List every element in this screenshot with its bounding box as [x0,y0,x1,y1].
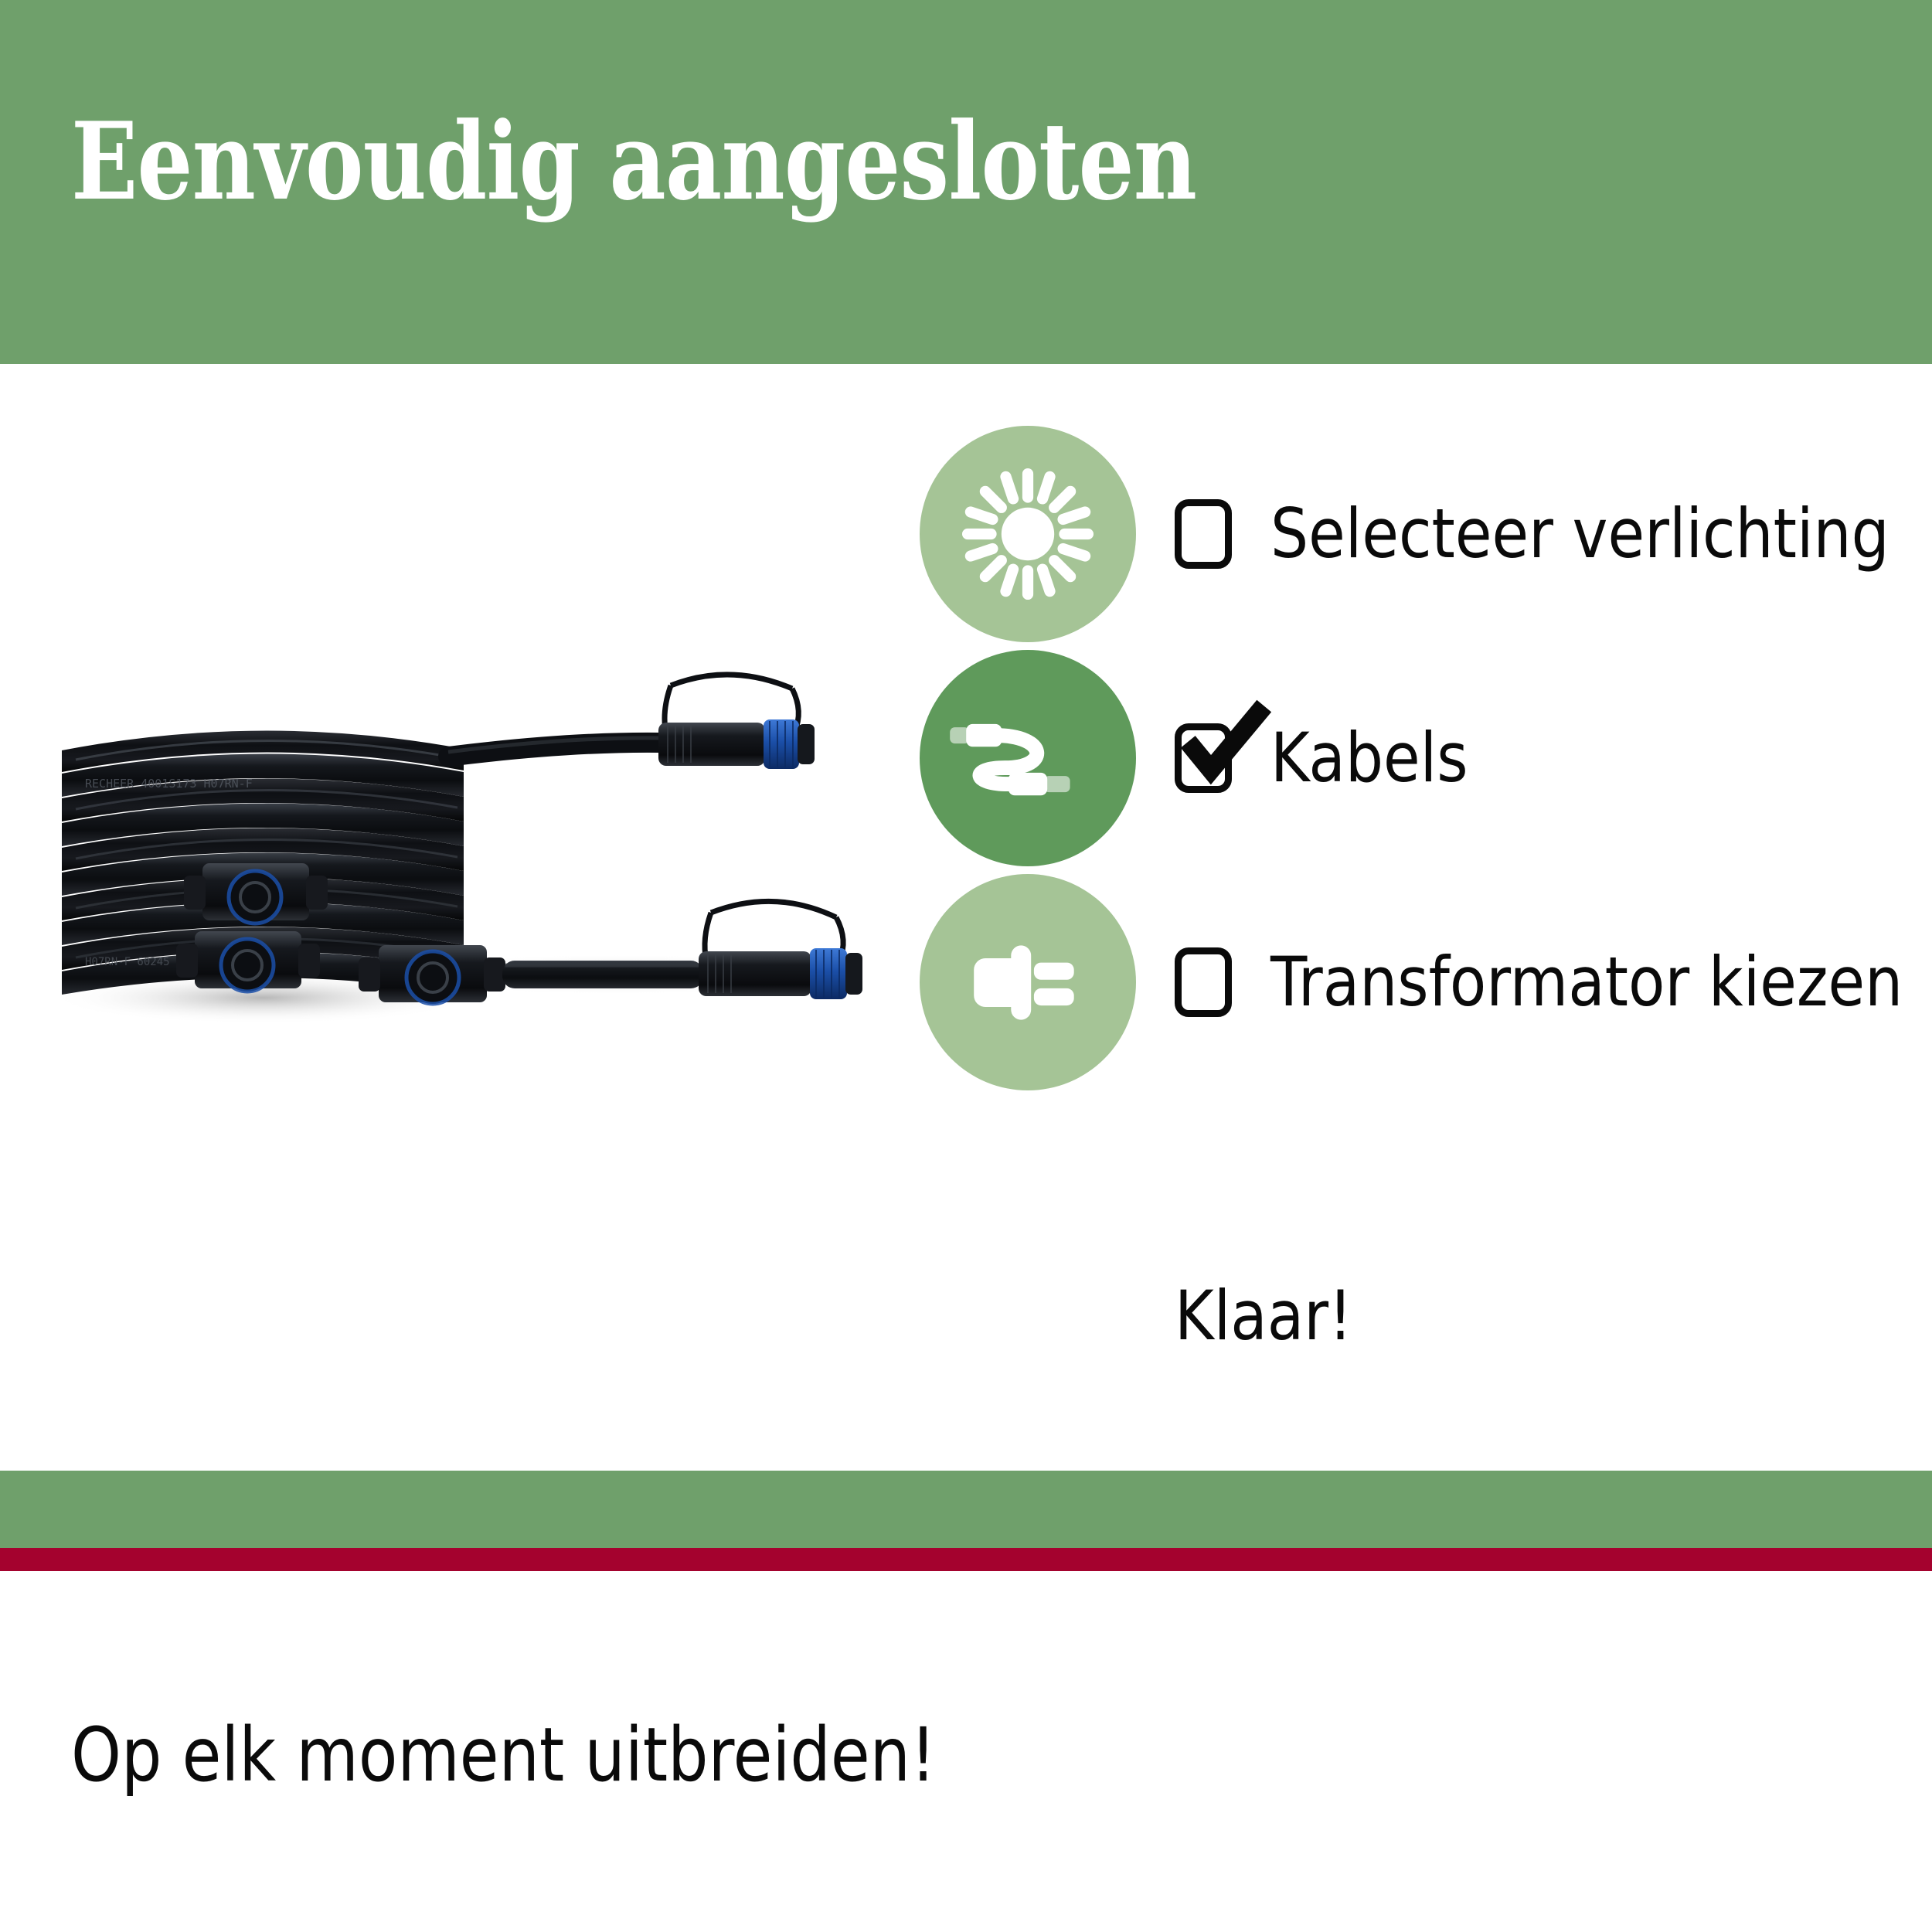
step-label-wrap-transformer[interactable]: Transformator kiezen [1175,942,1932,1022]
step-icon-circle-lighting [920,426,1136,642]
step-label-cables: Kabels [1270,724,1468,792]
footer-caption: Op elk moment uitbreiden! [71,1712,936,1798]
footer-red-bar [0,1548,1932,1571]
step-row-lighting[interactable]: Selecteer verlichting [920,426,1917,650]
cable-t-connector-1 [184,863,328,923]
step-icon-circle-cables [920,650,1136,866]
checkbox-cables[interactable] [1175,723,1232,793]
header-band: Eenvoudig aangesloten [0,0,1932,364]
checkmark-icon [1177,696,1271,791]
cable-icon [947,677,1109,839]
main-content: RECHEER 4001S173 H07RN-F IEC A05840I H07… [0,364,1932,1548]
step-label-wrap-cables[interactable]: Kabels [1175,718,1495,798]
cable-t-connector-2 [176,931,320,992]
plug-icon [957,911,1100,1054]
checkbox-transformer[interactable] [1175,947,1232,1017]
done-text: Klaar! [1175,1276,1352,1355]
step-row-transformer[interactable]: Transformator kiezen [920,874,1917,1098]
footer-green-bar [0,1471,1932,1548]
step-label-transformer: Transformator kiezen [1270,948,1903,1016]
cable-connector-top [658,675,815,769]
step-label-wrap-lighting[interactable]: Selecteer verlichting [1175,494,1932,574]
step-label-lighting: Selecteer verlichting [1270,500,1889,568]
step-icon-circle-transformer [920,874,1136,1090]
page-title: Eenvoudig aangesloten [71,108,1196,215]
cable-t-connector-3 [359,945,505,1004]
step-list: Selecteer verlichting [920,426,1917,1098]
checkbox-lighting[interactable] [1175,499,1232,569]
cable-connector-end [699,901,862,999]
step-row-cables[interactable]: Kabels [920,650,1917,874]
svg-text:RECHEER 4001S173 H07RN-F: RECHEER 4001S173 H07RN-F [85,777,253,791]
cable-coil-illustration: RECHEER 4001S173 H07RN-F IEC A05840I H07… [31,658,896,1121]
sun-icon [954,461,1101,607]
product-photo-cable-coil: RECHEER 4001S173 H07RN-F IEC A05840I H07… [31,658,896,1121]
